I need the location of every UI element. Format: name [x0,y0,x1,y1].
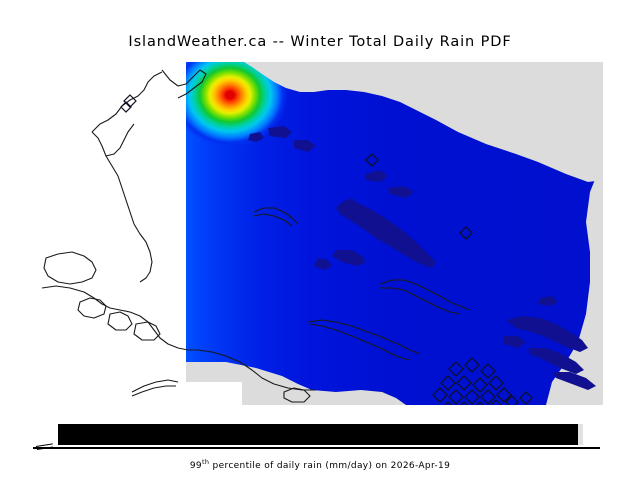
station-marker-layer[interactable] [36,62,603,405]
diamond-marker [458,402,470,405]
diamond-marker [441,376,455,390]
diamond-marker [506,396,518,405]
diamond-marker [489,376,503,390]
diamond-marker [449,362,463,376]
diamond-marker [520,392,532,404]
diamond-marker [474,402,486,405]
diamond-marker [460,227,472,239]
diamond-marker [465,390,479,404]
diamond-marker [442,402,454,405]
colorbar-tick-marks [36,444,54,451]
colorbar-edge-cap [578,424,583,445]
diamond-marker [366,154,378,166]
diamond-marker [481,390,495,404]
page-title: IslandWeather.ca -- Winter Total Daily R… [0,34,640,50]
colorbar-caption: 99th percentile of daily rain (mm/day) o… [0,458,640,471]
diamond-marker [473,378,487,392]
diamond-marker [449,390,463,404]
colorbar-axis-line [33,447,600,449]
diamond-marker [457,376,471,390]
diamond-marker [481,364,495,378]
caption-percentile: 99 [190,461,202,471]
diamond-marker [433,388,447,402]
caption-text: percentile of daily rain (mm/day) on 202… [209,461,450,471]
map-panel[interactable] [36,62,603,405]
diamond-marker [465,358,479,372]
colorbar[interactable] [58,424,578,445]
